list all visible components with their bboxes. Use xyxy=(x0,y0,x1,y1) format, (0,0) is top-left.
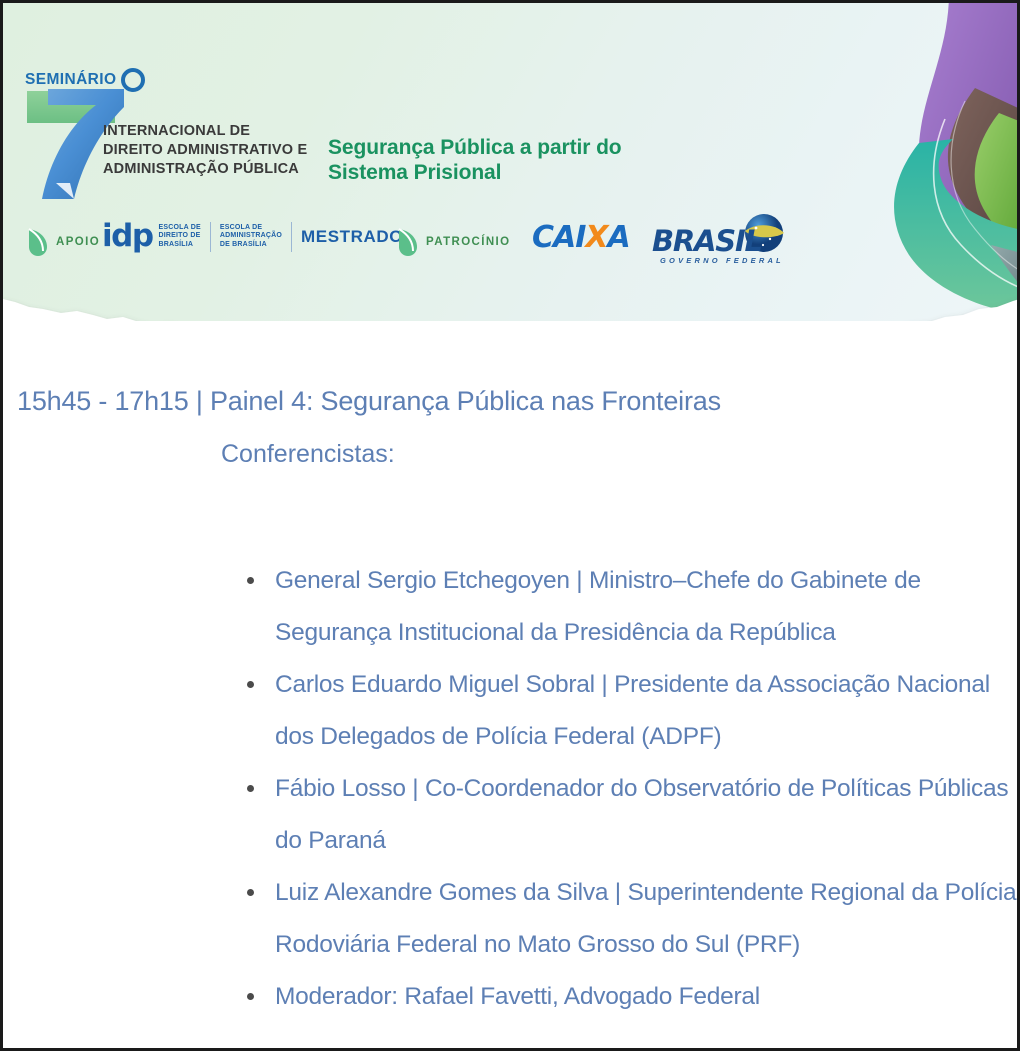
speaker-text: Carlos Eduardo Miguel Sobral | President… xyxy=(275,671,990,750)
list-item: General Sergio Etchegoyen | Ministro–Che… xyxy=(275,555,1020,659)
bullet-icon xyxy=(247,785,254,792)
mestrado-label: MESTRADO xyxy=(301,227,403,247)
speaker-text: Luiz Alexandre Gomes da Silva | Superint… xyxy=(275,879,1016,958)
ribbon-swirl-decoration xyxy=(879,3,1020,321)
speakers-heading: Conferencistas: xyxy=(221,440,395,469)
idp-wordmark: idp xyxy=(102,221,153,252)
event-logo-lockup: SEMINÁRIO INTERNACIONAL DE DIREIT xyxy=(21,65,321,200)
patrocinio-group: PATROCÍNIO xyxy=(397,227,511,257)
session-time-and-title: 15h45 - 17h15 | Painel 4: Segurança Públ… xyxy=(17,386,721,417)
list-item: Fábio Losso | Co-Coordenador do Observat… xyxy=(275,763,1020,867)
divider xyxy=(291,222,292,252)
apoio-label: APOIO xyxy=(56,236,100,248)
caixa-text-x: X xyxy=(585,220,607,255)
caixa-text-part1: CAI xyxy=(532,220,585,255)
torn-paper-edge xyxy=(3,289,1020,321)
conference-name: INTERNACIONAL DE DIREITO ADMINISTRATIVO … xyxy=(103,122,307,179)
slide-page: SEMINÁRIO INTERNACIONAL DE DIREIT xyxy=(0,0,1020,1051)
idp-logo: idp ESCOLA DE DIREITO DE BRASÍLIA ESCOLA… xyxy=(102,221,403,252)
event-header-band: SEMINÁRIO INTERNACIONAL DE DIREIT xyxy=(3,3,1020,321)
idp-escola-administracao-label: ESCOLA DE ADMINISTRAÇÃO DE BRASÍLIA xyxy=(220,224,282,250)
divider xyxy=(210,222,211,252)
event-theme-title: Segurança Pública a partir do Sistema Pr… xyxy=(328,135,622,185)
speaker-text: Moderador: Rafael Favetti, Advogado Fede… xyxy=(275,983,760,1010)
sponsor-strip: APOIO idp ESCOLA DE DIREITO DE BRASÍLIA … xyxy=(27,215,797,270)
patrocinio-label: PATROCÍNIO xyxy=(426,236,511,248)
brasil-governo-federal-logo: BRASIL GOVERNO FEDERAL xyxy=(652,215,787,267)
bullet-icon xyxy=(247,577,254,584)
speaker-text: Fábio Losso | Co-Coordenador do Observat… xyxy=(275,775,1008,854)
apoio-group: APOIO xyxy=(27,227,100,257)
caixa-wordmark: CAIXA xyxy=(532,223,630,253)
list-item: Moderador: Rafael Favetti, Advogado Fede… xyxy=(275,971,1020,1023)
idp-escola-direito-label: ESCOLA DE DIREITO DE BRASÍLIA xyxy=(159,224,201,250)
governo-federal-label: GOVERNO FEDERAL xyxy=(660,256,784,265)
bullet-icon xyxy=(247,681,254,688)
list-item: Carlos Eduardo Miguel Sobral | President… xyxy=(275,659,1020,763)
speaker-text: General Sergio Etchegoyen | Ministro–Che… xyxy=(275,567,921,646)
brasil-wordmark: BRASIL xyxy=(652,227,762,256)
leaf-icon xyxy=(27,227,49,257)
caixa-logo: CAIXA xyxy=(532,223,630,253)
bullet-icon xyxy=(247,889,254,896)
list-item: Luiz Alexandre Gomes da Silva | Superint… xyxy=(275,867,1020,971)
bullet-icon xyxy=(247,993,254,1000)
speakers-list: General Sergio Etchegoyen | Ministro–Che… xyxy=(235,555,1020,1023)
caixa-text-part2: A xyxy=(608,220,630,255)
leaf-icon xyxy=(397,227,419,257)
